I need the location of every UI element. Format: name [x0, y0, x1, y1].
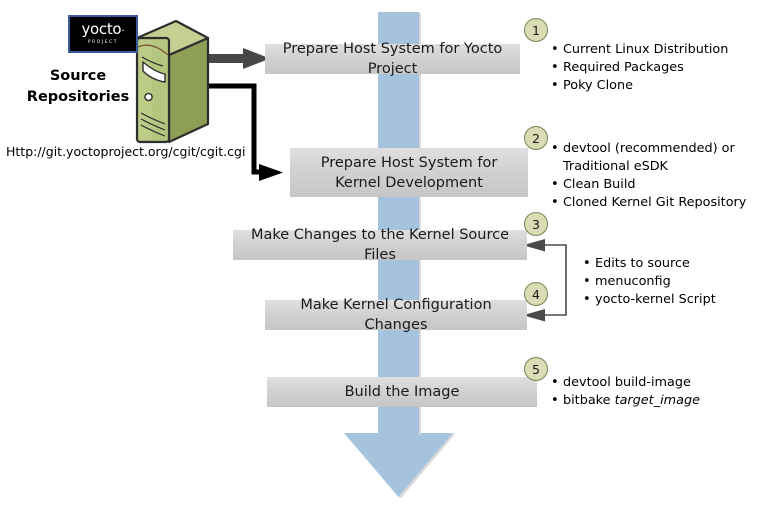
process-box-step-4[interactable]: Make Kernel Configuration Changes	[265, 300, 527, 330]
connector-server-to-box2	[207, 86, 283, 181]
process-box-step-1[interactable]: Prepare Host System for Yocto Project	[265, 44, 520, 74]
bullet-item: Clean Build	[550, 176, 740, 194]
diagram-canvas: yocto· PROJECT Source Repositories Http:…	[0, 0, 769, 517]
logo-wordmark: yocto·	[81, 22, 124, 38]
bullet-item: menuconfig	[582, 273, 716, 291]
step-number-badge-2: 2	[524, 126, 548, 150]
bullet-item: Cloned Kernel Git Repository	[550, 194, 740, 212]
process-box-step-2[interactable]: Prepare Host System for Kernel Developme…	[290, 148, 528, 197]
bullet-item: devtool build-image	[550, 374, 700, 392]
bitbake-target-image-variable: target_image	[615, 393, 700, 408]
process-box-step-5[interactable]: Build the Image	[267, 377, 537, 407]
bullet-item: Current Linux Distribution	[550, 41, 728, 59]
yocto-project-logo: yocto· PROJECT	[68, 15, 138, 53]
bitbake-command-prefix: bitbake	[563, 393, 615, 408]
source-label-line1: Source	[18, 66, 138, 87]
bullet-item: Required Packages	[550, 59, 728, 77]
bullet-list-step-5: devtool build-image bitbake target_image	[550, 374, 700, 410]
step-number-badge-5: 5	[524, 357, 548, 381]
bullet-item: Edits to source	[582, 255, 716, 273]
logo-dot: ·	[121, 24, 124, 37]
step-number-badge-1: 1	[524, 18, 548, 42]
server-tower-icon	[137, 21, 208, 142]
process-box-step-3[interactable]: Make Changes to the Kernel Source Files	[233, 230, 527, 260]
bullet-item: devtool (recommended) or Traditional eSD…	[550, 140, 740, 176]
bullet-item-bitbake: bitbake target_image	[550, 392, 700, 410]
bullet-list-steps-3-and-4: Edits to source menuconfig yocto-kernel …	[582, 255, 716, 309]
logo-subtitle: PROJECT	[88, 39, 118, 46]
bullet-item: yocto-kernel Script	[582, 291, 716, 309]
bullet-item: Poky Clone	[550, 77, 728, 95]
bullet-list-step-2: devtool (recommended) or Traditional eSD…	[550, 140, 740, 212]
bullet-list-step-1: Current Linux Distribution Required Pack…	[550, 41, 728, 95]
logo-word-text: yocto	[81, 20, 121, 38]
connector-bracket-box3-box4	[523, 239, 566, 322]
source-label-line2: Repositories	[18, 87, 138, 108]
source-repositories-label: Source Repositories	[18, 66, 138, 108]
source-repository-url: Http://git.yoctoproject.org/cgit/cgit.cg…	[6, 144, 245, 159]
connector-server-to-box1	[207, 48, 270, 69]
step-number-badge-3: 3	[524, 212, 548, 236]
step-number-badge-4: 4	[524, 282, 548, 306]
